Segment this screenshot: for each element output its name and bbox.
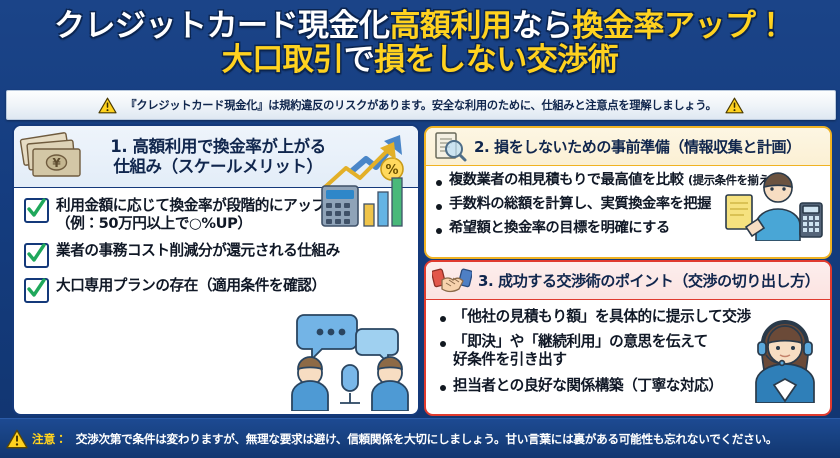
list-item-text: 利用金額に応じて換金率が段階的にアップ （例：50万円以上で○%UP） bbox=[56, 197, 326, 233]
list-item-text: 希望額と換金率の目標を明確にする bbox=[449, 220, 670, 238]
list-item: 手数料の総額を計算し、実質換金率を把握 bbox=[436, 196, 822, 214]
title-seg-2: 高額利用 bbox=[390, 8, 512, 44]
document-magnifier-icon bbox=[432, 130, 468, 164]
list-item-second: (提示条件を揃える) bbox=[688, 173, 785, 187]
list-item: 「他社の見積もり額」を具体的に提示して交渉 bbox=[440, 308, 822, 326]
infographic-root: クレジットカード現金化高額利用なら換金率アップ！ 大口取引で損をしない交渉術 『… bbox=[0, 0, 840, 458]
warning-triangle-icon bbox=[6, 429, 28, 449]
panel-preparation: 2. 損をしないための事前準備（情報収集と計画） 複数業者の相見積もりで最高値を… bbox=[424, 126, 832, 259]
list-item-text: 大口専用プランの存在（適用条件を確認） bbox=[56, 277, 326, 295]
panel-scale-title-line2: 仕組み（スケールメリット） bbox=[94, 157, 342, 177]
title-seg-5: 大口取引 bbox=[222, 42, 344, 78]
list-item-text: 「即決」や「継続利用」の意思を伝えて好条件を引き出す bbox=[453, 333, 708, 369]
list-item-main: 利用金額に応じて換金率が段階的にアップ bbox=[56, 197, 326, 214]
bottom-warning-text: 交渉次第で条件は変わりますが、無理な要求は避け、信頼関係を大切にしましょう。甘い… bbox=[76, 431, 777, 447]
list-item: 「即決」や「継続利用」の意思を伝えて好条件を引き出す bbox=[440, 333, 822, 369]
panel-preparation-header: 2. 損をしないための事前準備（情報収集と計画） bbox=[426, 128, 830, 166]
svg-text:%: % bbox=[385, 163, 398, 178]
title-line-1: クレジットカード現金化高額利用なら換金率アップ！ bbox=[54, 10, 786, 43]
notice-strip: 『クレジットカード現金化』は規約違反のリスクがあります。安全な利用のために、仕組… bbox=[6, 90, 836, 120]
checkbox-icon bbox=[24, 243, 49, 268]
panel-preparation-body: 複数業者の相見積もりで最高値を比較 (提示条件を揃える) 手数料の総額を計算し、… bbox=[426, 166, 830, 237]
panel-scale-title-line1: 1. 高額利用で換金率が上がる bbox=[94, 137, 342, 157]
banknotes-icon: ¥ bbox=[18, 130, 88, 184]
panel-preparation-title: 2. 損をしないための事前準備（情報収集と計画） bbox=[474, 138, 801, 156]
list-item: 希望額と換金率の目標を明確にする bbox=[436, 220, 822, 238]
panel-scale-header: ¥ 1. 高額利用で換金率が上がる 仕組み（スケールメリット） % bbox=[14, 126, 418, 188]
checkbox-icon bbox=[24, 278, 49, 303]
list-item-main: 「即決」や「継続利用」の意思を伝えて bbox=[453, 333, 708, 350]
panel-scale-merit: ¥ 1. 高額利用で換金率が上がる 仕組み（スケールメリット） % 利用金額 bbox=[12, 124, 420, 416]
panel-negotiation-title: 3. 成功する交渉術のポイント（交渉の切り出し方） bbox=[478, 272, 819, 290]
warning-triangle-icon bbox=[725, 97, 744, 114]
title-seg-3: なら bbox=[512, 8, 573, 44]
svg-text:¥: ¥ bbox=[52, 156, 61, 170]
title-seg-7: 損をしない交渉術 bbox=[374, 42, 618, 78]
bullet-dot-icon bbox=[440, 341, 446, 347]
panel-scale-title: 1. 高額利用で換金率が上がる 仕組み（スケールメリット） bbox=[94, 137, 342, 177]
title-seg-4: 換金率アップ！ bbox=[573, 8, 787, 44]
notice-text: 『クレジットカード現金化』は規約違反のリスクがあります。安全な利用のために、仕組… bbox=[125, 97, 716, 113]
list-item-second: （例：50万円以上で○%UP） bbox=[56, 215, 252, 232]
list-item: 複数業者の相見積もりで最高値を比較 (提示条件を揃える) bbox=[436, 172, 822, 190]
title-seg-6: で bbox=[344, 42, 375, 78]
bottom-warning-label: 注意： bbox=[32, 431, 67, 447]
upward-arrow-percent-icon: % bbox=[348, 129, 410, 185]
handshake-icon bbox=[432, 265, 472, 297]
bullet-dot-icon bbox=[436, 228, 442, 234]
bullet-dot-icon bbox=[436, 204, 442, 210]
bullet-dot-icon bbox=[440, 385, 446, 391]
list-item: 業者の事務コスト削減分が還元される仕組み bbox=[24, 242, 408, 268]
list-item-text: 担当者との良好な関係構築（丁寧な対応） bbox=[453, 377, 723, 395]
checkbox-icon bbox=[24, 198, 49, 223]
list-item-text: 業者の事務コスト削減分が還元される仕組み bbox=[56, 242, 340, 260]
panel-scale-body: 利用金額に応じて換金率が段階的にアップ （例：50万円以上で○%UP） 業者の事… bbox=[14, 188, 418, 303]
list-item: 利用金額に応じて換金率が段階的にアップ （例：50万円以上で○%UP） bbox=[24, 197, 408, 233]
bottom-warning-bar: 注意： 交渉次第で条件は変わりますが、無理な要求は避け、信頼関係を大切にしましょ… bbox=[0, 418, 840, 458]
title-line-2: 大口取引で損をしない交渉術 bbox=[222, 44, 619, 77]
list-item-text: 複数業者の相見積もりで最高値を比較 (提示条件を揃える) bbox=[449, 172, 785, 190]
panel-negotiation: 3. 成功する交渉術のポイント（交渉の切り出し方） 「他社の見積もり額」を具体的… bbox=[424, 260, 832, 416]
bullet-dot-icon bbox=[436, 180, 442, 186]
list-item: 大口専用プランの存在（適用条件を確認） bbox=[24, 277, 408, 303]
panel-negotiation-header: 3. 成功する交渉術のポイント（交渉の切り出し方） bbox=[426, 262, 830, 300]
list-item-main: 複数業者の相見積もりで最高値を比較 bbox=[449, 172, 683, 188]
warning-triangle-icon bbox=[98, 97, 117, 114]
title-block: クレジットカード現金化高額利用なら換金率アップ！ 大口取引で損をしない交渉術 bbox=[0, 0, 840, 86]
list-item-text: 手数料の総額を計算し、実質換金率を把握 bbox=[449, 196, 711, 214]
list-item-text: 「他社の見積もり額」を具体的に提示して交渉 bbox=[453, 308, 751, 326]
conversation-people-icon bbox=[282, 307, 412, 411]
panel-negotiation-body: 「他社の見積もり額」を具体的に提示して交渉 「即決」や「継続利用」の意思を伝えて… bbox=[426, 300, 830, 395]
title-seg-1: クレジットカード現金化 bbox=[54, 8, 390, 44]
bullet-dot-icon bbox=[440, 316, 446, 322]
list-item-second: 好条件を引き出す bbox=[453, 351, 567, 368]
list-item: 担当者との良好な関係構築（丁寧な対応） bbox=[440, 377, 822, 395]
